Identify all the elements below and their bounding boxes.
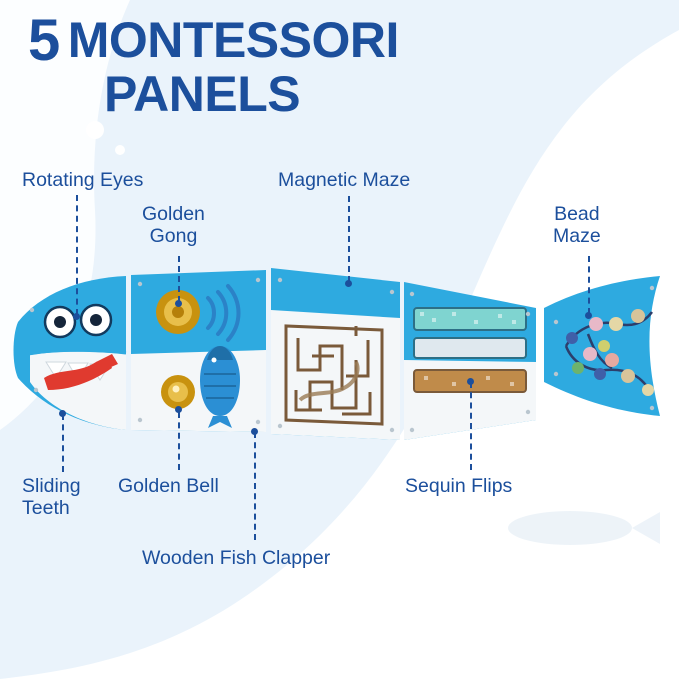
- dot-magnetic-maze: [345, 280, 352, 287]
- title-word-panels: PANELS: [104, 71, 399, 117]
- leader-rotating-eyes: [76, 195, 78, 315]
- dot-golden-bell: [175, 406, 182, 413]
- label-rotating-eyes: Rotating Eyes: [22, 170, 143, 192]
- title-number: 5: [28, 8, 60, 73]
- leader-magnetic-maze: [348, 196, 350, 282]
- leader-golden-bell: [178, 412, 180, 470]
- title-line-one: 5MONTESSORI: [28, 14, 399, 67]
- bead: [583, 347, 597, 361]
- sequin-strip-teal: [414, 308, 526, 330]
- label-magnetic-maze: Magnetic Maze: [278, 170, 410, 192]
- sequin-strip-silver: [414, 338, 526, 358]
- bead: [589, 317, 603, 331]
- panel-bead-maze: [544, 276, 660, 416]
- dot-sliding-teeth: [59, 410, 66, 417]
- bead: [566, 332, 578, 344]
- dot-bead-maze: [585, 312, 592, 319]
- dot-wooden-fish-clapper: [251, 428, 258, 435]
- bead: [609, 317, 623, 331]
- dot-sequin-flips: [467, 378, 474, 385]
- panel-gong-bell: [131, 270, 266, 432]
- label-sequin-flips: Sequin Flips: [405, 476, 512, 498]
- page-title: 5MONTESSORI PANELS: [28, 14, 399, 117]
- label-bead-maze: Bead Maze: [553, 204, 601, 248]
- panel-head: [14, 276, 127, 430]
- bead: [621, 369, 635, 383]
- label-golden-bell: Golden Bell: [118, 476, 219, 498]
- bead: [572, 362, 584, 374]
- panel-magnetic-maze: [271, 268, 400, 440]
- product-infographic: 5MONTESSORI PANELS: [0, 0, 679, 679]
- leader-sliding-teeth: [62, 414, 64, 472]
- fish-activity-board: [0, 250, 679, 450]
- bead: [594, 368, 606, 380]
- bead: [631, 309, 645, 323]
- title-word-montessori: MONTESSORI: [68, 12, 399, 68]
- label-wooden-fish-clapper: Wooden Fish Clapper: [142, 548, 330, 570]
- leader-sequin-flips: [470, 382, 472, 470]
- bead: [605, 353, 619, 367]
- label-golden-gong: Golden Gong: [142, 204, 205, 248]
- dot-rotating-eyes: [73, 313, 80, 320]
- leader-wooden-fish-clapper: [254, 432, 256, 540]
- label-sliding-teeth: Sliding Teeth: [22, 476, 81, 520]
- leader-bead-maze: [588, 256, 590, 314]
- bead: [598, 340, 610, 352]
- leader-golden-gong: [178, 256, 180, 302]
- dot-golden-gong: [175, 300, 182, 307]
- bead: [642, 384, 654, 396]
